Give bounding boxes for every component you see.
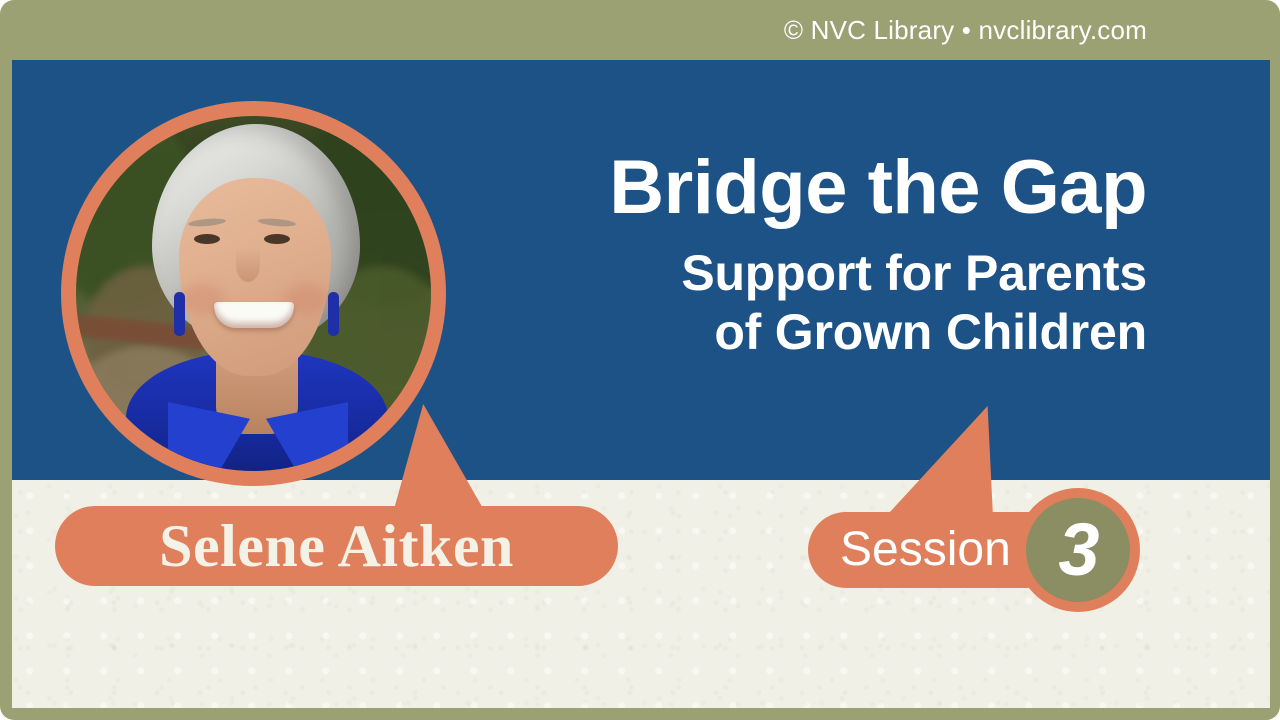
slide-canvas: © NVC Library • nvclibrary.com Bridge th… [0,0,1280,720]
page-title: Bridge the Gap [609,150,1147,226]
speaker-name-badge: Selene Aitken [55,506,618,586]
session-number-circle: 3 [1026,498,1130,602]
speaker-photo [76,116,431,471]
session-label-text: Session [840,526,1011,574]
speaker-avatar-ring [61,101,446,486]
subtitle-line-2: of Grown Children [609,303,1147,362]
session-number-ring: 3 [1016,488,1140,612]
subtitle-line-1: Support for Parents [609,244,1147,303]
page-subtitle: Support for Parents of Grown Children [609,244,1147,362]
eye-shape [264,234,290,244]
copyright-text: © NVC Library • nvclibrary.com [784,15,1147,46]
earring-shape [328,292,339,336]
smile-shape [214,302,294,328]
session-number-text: 3 [1058,513,1097,587]
speaker-name-text: Selene Aitken [159,516,514,576]
earring-shape [174,292,185,336]
title-block: Bridge the Gap Support for Parents of Gr… [609,150,1147,362]
header-bar: © NVC Library • nvclibrary.com [0,0,1280,60]
eye-shape [194,234,220,244]
nose-shape [236,248,260,282]
